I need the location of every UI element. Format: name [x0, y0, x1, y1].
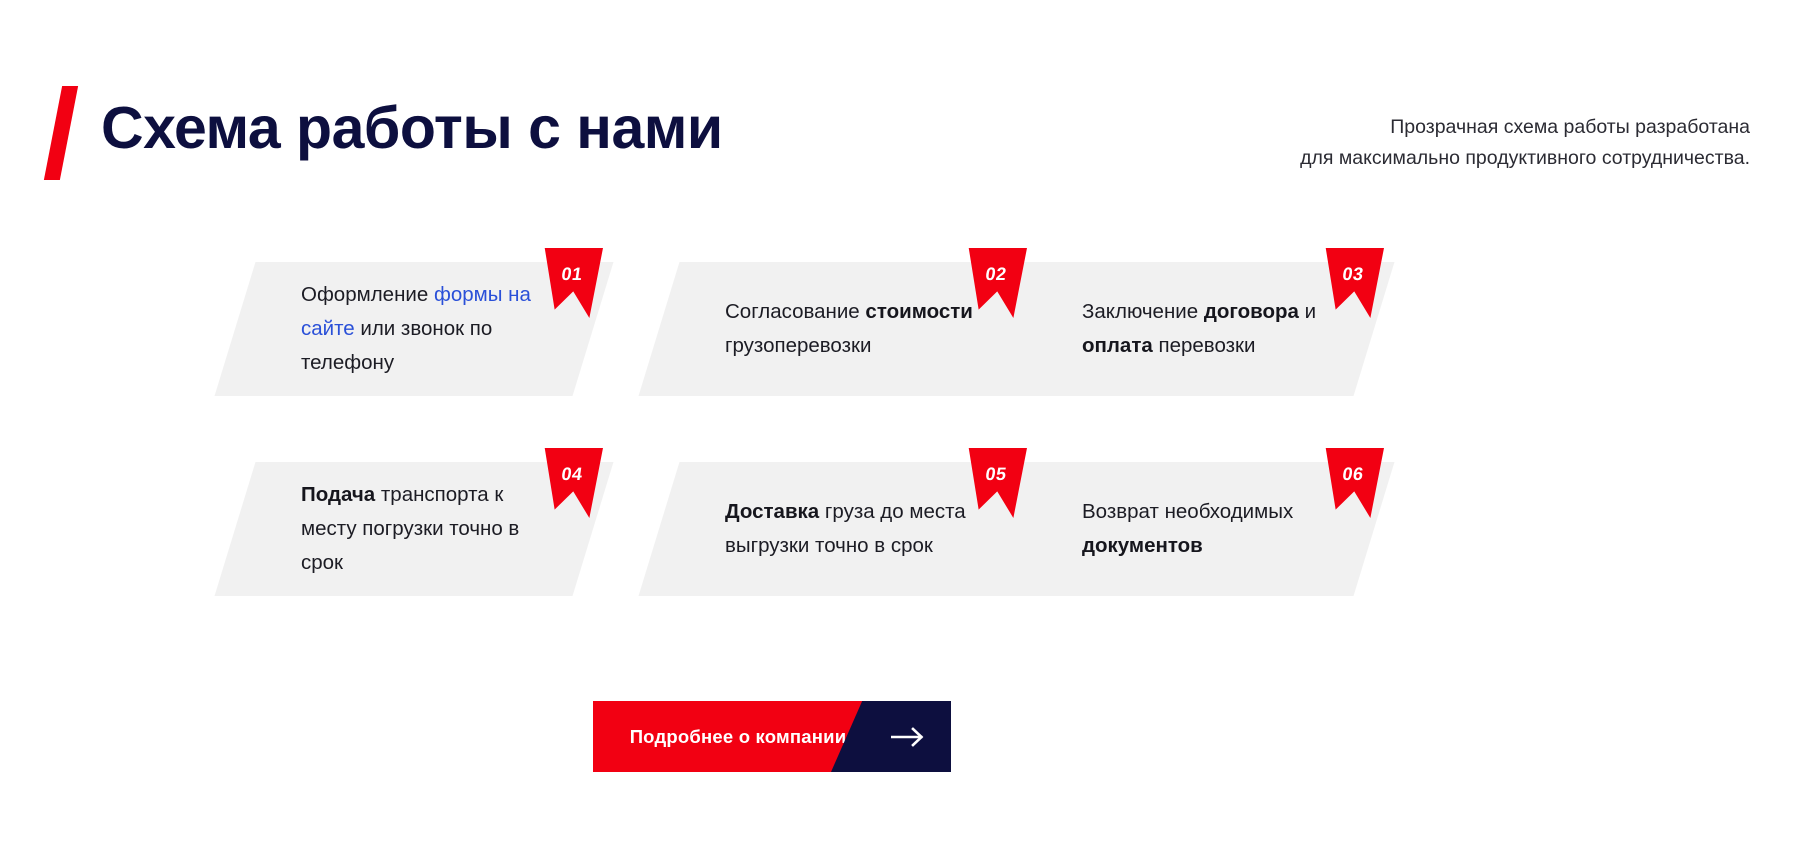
steps-row-1: Оформление формы на сайте или звонок по …	[235, 262, 1575, 396]
step-card[interactable]: Доставка груза до места выгрузки точно в…	[659, 462, 1017, 596]
page-header: Схема работы с нами Прозрачная схема раб…	[0, 0, 1806, 200]
more-about-company-button[interactable]: Подробнее о компании	[593, 701, 951, 772]
step-card[interactable]: Согласование стоимости грузоперевозки 02	[659, 262, 1017, 396]
step-card-text: Заключение договора и оплата перевозки	[1082, 295, 1344, 363]
step-card[interactable]: Оформление формы на сайте или звонок по …	[235, 262, 593, 396]
red-accent-bar	[44, 86, 78, 180]
step-card-text: Оформление формы на сайте или звонок по …	[301, 278, 563, 380]
step-card-text: Возврат необходимых документов	[1082, 495, 1344, 563]
step-card-text: Согласование стоимости грузоперевозки	[725, 295, 987, 363]
page-subtitle: Прозрачная схема работы разработана для …	[1230, 112, 1750, 174]
steps-row-2: Подача транспорта к месту погрузки точно…	[235, 462, 1575, 596]
step-card[interactable]: Подача транспорта к месту погрузки точно…	[235, 462, 593, 596]
step-card[interactable]: Возврат необходимых документов 06	[1016, 462, 1374, 596]
page-title: Схема работы с нами	[101, 89, 723, 167]
subtitle-line-1: Прозрачная схема работы разработана	[1230, 112, 1750, 143]
subtitle-line-2: для максимально продуктивного сотрудниче…	[1230, 143, 1750, 174]
arrow-right-icon	[891, 726, 925, 748]
step-card[interactable]: Заключение договора и оплата перевозки 0…	[1016, 262, 1374, 396]
step-card-text: Подача транспорта к месту погрузки точно…	[301, 478, 563, 580]
steps-grid: Оформление формы на сайте или звонок по …	[235, 262, 1575, 622]
step-card-text: Доставка груза до места выгрузки точно в…	[725, 495, 987, 563]
